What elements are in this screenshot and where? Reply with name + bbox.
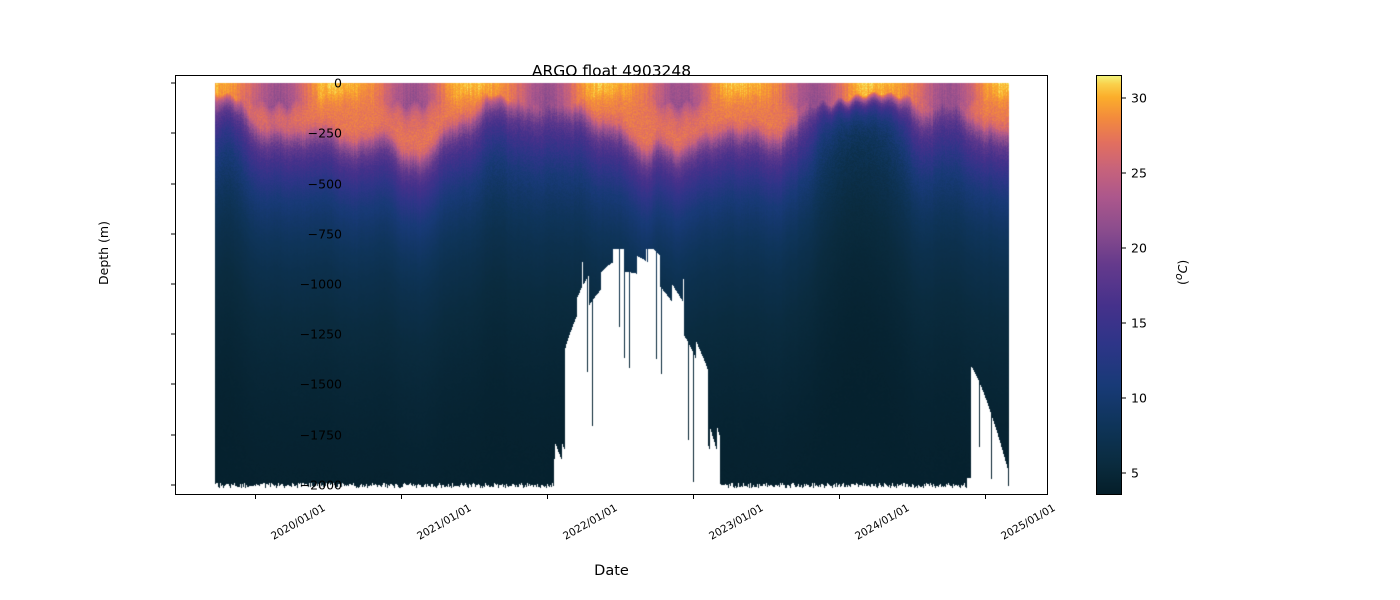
y-tick-label-4: −1000 bbox=[182, 276, 342, 291]
colorbar-tick-label-5: 30 bbox=[1131, 90, 1147, 105]
colorbar-tick-mark-5 bbox=[1122, 97, 1126, 98]
colorbar-gradient bbox=[1097, 76, 1121, 494]
x-tick-label-5: 2025/01/01 bbox=[999, 502, 1057, 543]
x-axis-label: Date bbox=[175, 563, 1048, 579]
y-tick-mark-8 bbox=[171, 484, 175, 485]
y-tick-mark-1 bbox=[171, 133, 175, 134]
y-tick-mark-7 bbox=[171, 434, 175, 435]
colorbar-unit-prefix: ( bbox=[1175, 280, 1190, 285]
x-tick-label-1: 2021/01/01 bbox=[415, 502, 473, 543]
x-tick-mark-3 bbox=[693, 495, 694, 499]
colorbar-tick-mark-0 bbox=[1122, 472, 1126, 473]
x-tick-mark-2 bbox=[547, 495, 548, 499]
colorbar-tick-label-3: 20 bbox=[1131, 240, 1147, 255]
y-tick-label-1: −250 bbox=[182, 126, 342, 141]
colorbar[interactable] bbox=[1096, 75, 1122, 495]
x-tick-label-4: 2024/01/01 bbox=[854, 502, 912, 543]
x-tick-label-0: 2020/01/01 bbox=[269, 502, 327, 543]
colorbar-tick-label-1: 10 bbox=[1131, 390, 1147, 405]
x-tick-mark-1 bbox=[401, 495, 402, 499]
colorbar-tick-label-0: 5 bbox=[1131, 465, 1139, 480]
colorbar-label: (oC) bbox=[1172, 260, 1190, 285]
colorbar-tick-label-2: 15 bbox=[1131, 315, 1147, 330]
y-tick-label-6: −1500 bbox=[182, 377, 342, 392]
colorbar-tick-mark-2 bbox=[1122, 322, 1126, 323]
y-tick-label-8: −2000 bbox=[182, 477, 342, 492]
colorbar-tick-mark-4 bbox=[1122, 172, 1126, 173]
x-tick-mark-0 bbox=[255, 495, 256, 499]
y-tick-mark-5 bbox=[171, 334, 175, 335]
y-tick-mark-6 bbox=[171, 384, 175, 385]
x-tick-mark-5 bbox=[985, 495, 986, 499]
y-axis-label: Depth (m) bbox=[96, 221, 111, 285]
y-tick-label-5: −1250 bbox=[182, 327, 342, 342]
y-tick-mark-3 bbox=[171, 233, 175, 234]
x-tick-label-2: 2022/01/01 bbox=[561, 502, 619, 543]
y-tick-mark-4 bbox=[171, 283, 175, 284]
y-tick-label-0: 0 bbox=[182, 76, 342, 91]
colorbar-tick-mark-3 bbox=[1122, 247, 1126, 248]
y-tick-mark-0 bbox=[171, 83, 175, 84]
x-tick-label-3: 2023/01/01 bbox=[707, 502, 765, 543]
x-tick-mark-4 bbox=[839, 495, 840, 499]
colorbar-degree-superscript: o bbox=[1172, 273, 1185, 280]
y-tick-label-3: −750 bbox=[182, 226, 342, 241]
colorbar-unit-suffix: ) bbox=[1175, 260, 1190, 265]
colorbar-tick-label-4: 25 bbox=[1131, 165, 1147, 180]
y-tick-mark-2 bbox=[171, 183, 175, 184]
y-tick-label-7: −1750 bbox=[182, 427, 342, 442]
colorbar-unit-letter: C bbox=[1175, 265, 1190, 274]
colorbar-tick-mark-1 bbox=[1122, 397, 1126, 398]
y-tick-label-2: −500 bbox=[182, 176, 342, 191]
matplotlib-figure: ARGO float 4903248 Water Temperature (oC… bbox=[0, 0, 1400, 600]
